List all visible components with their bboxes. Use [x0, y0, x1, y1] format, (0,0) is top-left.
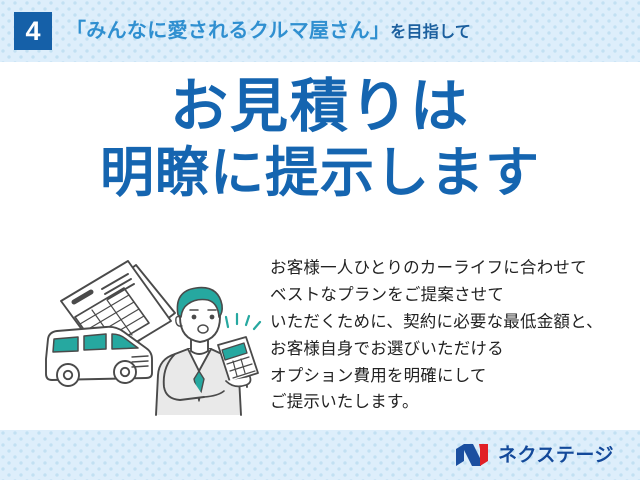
- salesman-estimate-illustration: [28, 247, 268, 417]
- header-title-quoted: 「みんなに愛されるクルマ屋さん」: [66, 20, 390, 42]
- brand-logo: ネクステージ: [0, 430, 640, 480]
- sparkle-lines: [226, 314, 260, 329]
- header: 4 「みんなに愛されるクルマ屋さん」を目指して: [0, 0, 640, 62]
- promo-slide: 4 「みんなに愛されるクルマ屋さん」を目指して お見積りは 明瞭に提示します お…: [0, 0, 640, 480]
- content-area: お見積りは 明瞭に提示します お客様一人ひとりのカーライフに合わせて ベストなプ…: [0, 62, 640, 430]
- headline: お見積りは 明瞭に提示します: [0, 76, 640, 203]
- nextage-n-mark-icon: [455, 443, 489, 467]
- headline-line-1: お見積りは: [0, 76, 640, 137]
- step-number-badge: 4: [14, 12, 52, 50]
- header-title: 「みんなに愛されるクルマ屋さん」を目指して: [66, 21, 471, 41]
- header-title-tail: を目指して: [390, 24, 471, 41]
- body-line: お客様自身でお選びいただける: [270, 336, 630, 363]
- headline-line-2: 明瞭に提示します: [0, 145, 640, 202]
- body-line: オプション費用を明確にして: [270, 363, 630, 390]
- body-line: お客様一人ひとりのカーライフに合わせて: [270, 255, 630, 282]
- body-line: いただくために、契約に必要な最低金額と、: [270, 309, 630, 336]
- body-line: ご提示いたします。: [270, 389, 630, 416]
- brand-name: ネクステージ: [498, 446, 614, 465]
- body-line: ベストなプランをご提案させて: [270, 282, 630, 309]
- body-paragraph: お客様一人ひとりのカーライフに合わせて ベストなプランをご提案させて いただくた…: [270, 255, 630, 416]
